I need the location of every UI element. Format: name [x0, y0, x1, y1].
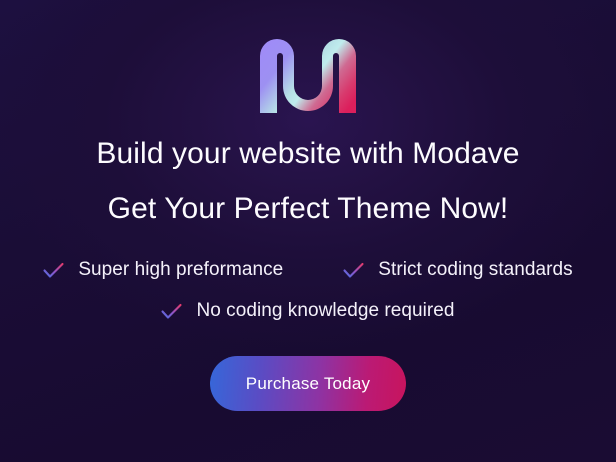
- modave-logo-icon: [250, 29, 366, 113]
- feature-item-performance: Super high preformance: [43, 259, 283, 281]
- feature-list: Super high preformance Strict coding sta…: [0, 259, 616, 322]
- check-icon: [161, 303, 182, 320]
- feature-item-no-coding: No coding knowledge required: [161, 300, 454, 322]
- cta-container: Purchase Today: [0, 356, 616, 411]
- feature-label: Super high preformance: [78, 259, 283, 281]
- feature-row-top: Super high preformance Strict coding sta…: [0, 259, 616, 281]
- promo-banner: Build your website with Modave Get Your …: [0, 0, 616, 462]
- headline-secondary: Get Your Perfect Theme Now!: [0, 194, 616, 224]
- headline-block: Build your website with Modave Get Your …: [0, 139, 616, 224]
- check-icon: [343, 262, 364, 279]
- feature-label: No coding knowledge required: [196, 300, 454, 322]
- feature-row-bottom: No coding knowledge required: [0, 300, 616, 322]
- modave-logo: [250, 29, 366, 113]
- headline-primary: Build your website with Modave: [0, 139, 616, 169]
- feature-label: Strict coding standards: [378, 259, 572, 281]
- check-icon: [43, 262, 64, 279]
- feature-item-standards: Strict coding standards: [343, 259, 572, 281]
- purchase-today-button[interactable]: Purchase Today: [210, 356, 406, 411]
